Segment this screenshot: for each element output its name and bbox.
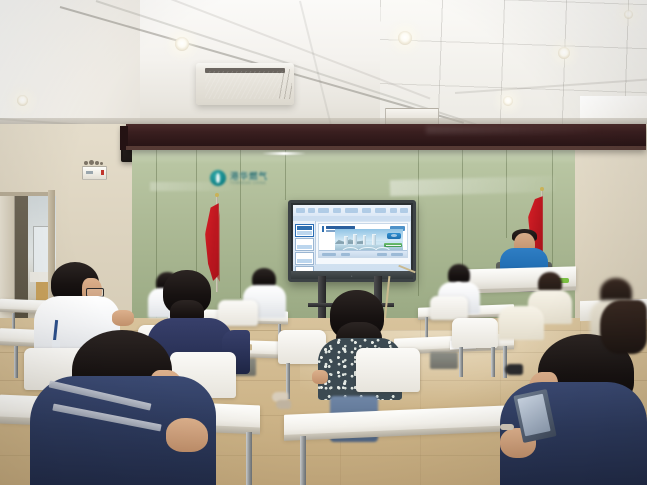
wristwatch — [500, 424, 514, 430]
desk-leg — [300, 436, 306, 485]
shoe — [276, 400, 291, 409]
ppt-slide-thumbnail[interactable] — [295, 252, 314, 265]
ppt-current-slide[interactable] — [318, 223, 408, 258]
display-bottom-bezel: • — [291, 271, 413, 279]
wall-box-indicator — [86, 171, 93, 174]
chair-leg — [459, 347, 463, 377]
desk-leg — [14, 346, 18, 378]
attendee-right-cream-body — [498, 306, 544, 340]
wall-panel-seam — [462, 148, 463, 268]
logo-subtext: TOWNGAS CHINA — [230, 181, 266, 185]
attendee-right-floral-hand — [312, 370, 328, 384]
wall-box-wire — [95, 161, 99, 165]
display-screen[interactable] — [293, 205, 411, 271]
logo-mark-icon — [210, 170, 226, 186]
under-desk-bin — [430, 352, 458, 369]
ceiling-ac-unit — [196, 63, 294, 105]
chair-back-row[interactable] — [430, 296, 468, 320]
ppt-status-bar — [319, 250, 407, 257]
beam-underside — [126, 146, 646, 150]
ac-grille — [205, 71, 285, 99]
flagpole-finial-left — [215, 193, 219, 197]
far-chair — [36, 282, 48, 300]
wall-box-led — [101, 170, 104, 175]
display-brand-label: • — [351, 274, 353, 278]
wall-box-wire — [84, 161, 88, 165]
chair-front-right[interactable] — [356, 348, 420, 392]
desk-leg — [246, 432, 252, 485]
attendee-left-arm — [112, 310, 134, 326]
attendee-front-left-arm — [166, 418, 208, 452]
ceiling-soffit-left — [0, 0, 140, 132]
ac-side-louver — [279, 69, 292, 99]
presentation-display[interactable]: • — [288, 200, 416, 282]
under-beam-strip-light — [262, 152, 306, 155]
downlight — [175, 37, 189, 51]
downlight — [17, 95, 28, 106]
ppt-slide-thumbnail[interactable] — [295, 224, 314, 237]
downlight — [624, 10, 633, 19]
downlight — [398, 31, 412, 45]
chair-mid-right[interactable] — [452, 318, 498, 348]
ppt-thumbnail-panel[interactable] — [293, 221, 316, 265]
ppt-slide-thumbnail[interactable] — [295, 238, 314, 251]
shoe — [505, 364, 523, 375]
chair-leg — [491, 347, 495, 377]
training-room-photo: 港华燃气 TOWNGAS CHINA — [0, 0, 647, 485]
company-logo: 港华燃气 TOWNGAS CHINA — [210, 169, 294, 191]
downlight — [503, 96, 513, 106]
beam-gloss — [426, 126, 606, 134]
wall-control-box[interactable] — [82, 166, 107, 180]
wall-box-wire — [100, 162, 103, 165]
attendee-edge-right-hair — [600, 300, 647, 354]
flagpole-finial-right — [540, 187, 544, 191]
wall-panel-seam — [418, 148, 419, 296]
wall-box-wire — [89, 160, 94, 165]
chair-back-row[interactable] — [218, 300, 258, 326]
ppt-slide-canvas[interactable] — [316, 222, 410, 264]
downlight — [558, 47, 570, 59]
